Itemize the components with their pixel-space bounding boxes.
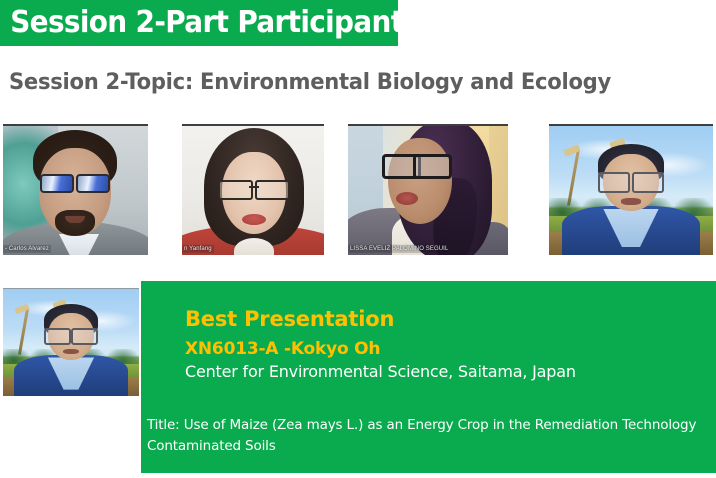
glasses-lens-left-4 [598, 172, 630, 193]
glasses-lens-left-2 [218, 180, 253, 200]
participant-name-tag-1: - Carlos Alvarez [3, 245, 51, 253]
award-person-glasses [44, 328, 98, 342]
participant-video-frame-1 [3, 126, 148, 255]
award-affiliation: Center for Environmental Science, Saitam… [185, 362, 576, 381]
person-beard-1 [55, 210, 95, 236]
award-presentation-title: Title: Use of Maize (Zea mays L.) as an … [147, 415, 716, 457]
person-lips-2 [242, 214, 266, 225]
participant-video-tile-2: n Yanfang [182, 124, 324, 255]
participant-video-frame-3 [348, 126, 508, 255]
award-glasses-lens-left [44, 328, 71, 346]
participant-name-tag-3: LISSA EVELIZ PALOMINO SEGUIL [348, 245, 450, 253]
award-code-and-name: XN6013-A -Kokyo Oh [185, 339, 380, 359]
person-lips-3 [396, 192, 418, 205]
participant-video-tile-4 [549, 124, 713, 255]
glasses-lens-left-1 [40, 174, 74, 193]
award-winner-video-frame [3, 289, 139, 396]
person-glasses-2 [218, 180, 290, 197]
participant-video-tile-3: LISSA EVELIZ PALOMINO SEGUIL [348, 124, 508, 255]
award-winner-photo [3, 288, 139, 396]
glasses-lens-right-2 [255, 180, 290, 200]
person-glasses-4 [598, 172, 664, 189]
participant-name-tag-2: n Yanfang [182, 245, 214, 253]
session-topic-subtitle: Session 2-Topic: Environmental Biology a… [9, 70, 611, 95]
person-glasses-3 [382, 154, 456, 174]
participant-video-frame-2 [182, 126, 324, 255]
person-mouth-4 [621, 198, 641, 204]
person-face-3 [388, 138, 452, 224]
glasses-lens-right-3 [413, 154, 452, 179]
person-glasses-1 [39, 174, 111, 190]
header-banner: Session 2-Part Participants [0, 0, 398, 46]
glasses-lens-right-4 [632, 172, 664, 193]
page-title: Session 2-Part Participants [0, 8, 419, 38]
glasses-lens-right-1 [76, 174, 110, 193]
participant-video-frame-4 [549, 126, 713, 255]
participant-video-tile-1: - Carlos Alvarez [3, 124, 148, 255]
award-glasses-lens-right [71, 328, 98, 346]
award-person-mouth [63, 349, 79, 354]
glasses-bridge-2 [249, 186, 259, 188]
best-presentation-panel: Best Presentation XN6013-A -Kokyo Oh Cen… [141, 281, 716, 473]
award-heading: Best Presentation [185, 307, 394, 331]
